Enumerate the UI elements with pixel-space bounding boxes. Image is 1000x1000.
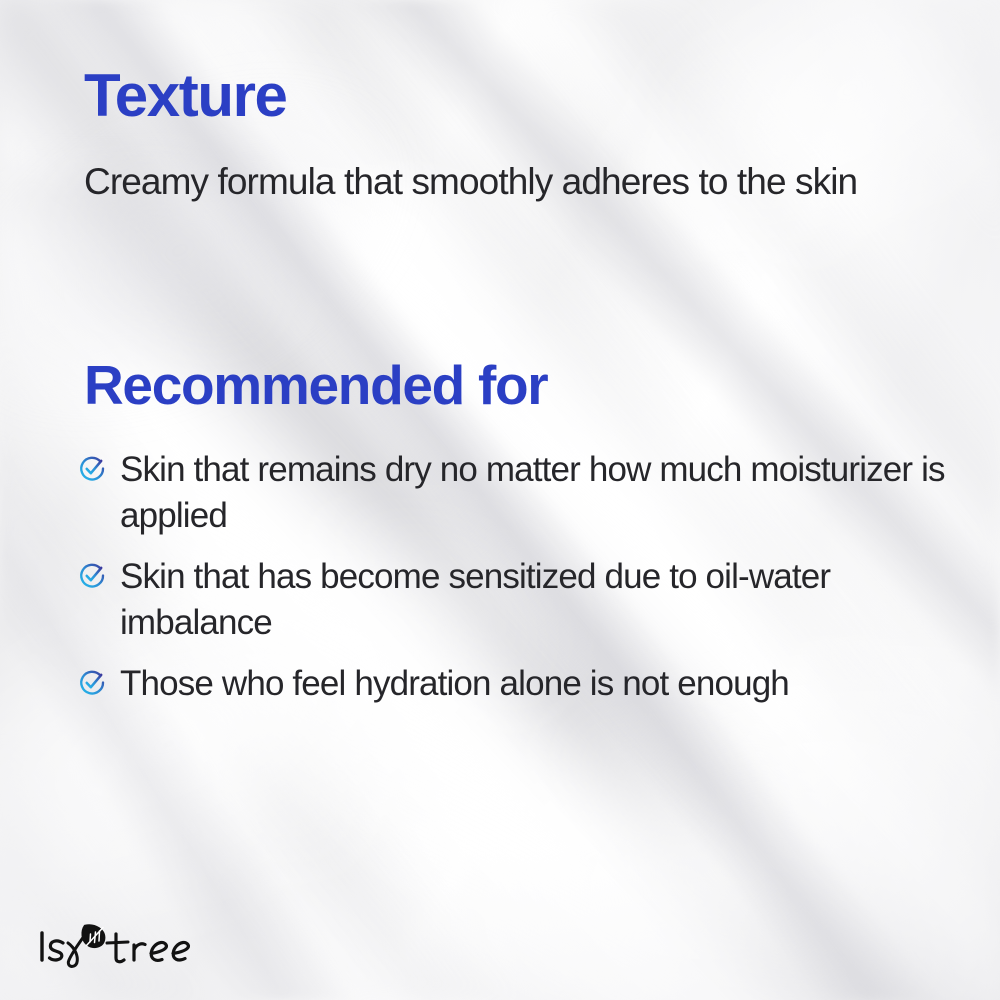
list-item: Those who feel hydration alone is not en…	[78, 661, 978, 707]
brand-logo: Isntree	[33, 916, 233, 978]
list-item: Skin that has become sensitized due to o…	[78, 554, 978, 645]
check-circle-icon	[78, 668, 107, 697]
recommended-heading: Recommended for	[84, 358, 547, 413]
list-item: Skin that remains dry no matter how much…	[78, 447, 978, 538]
list-item-label: Those who feel hydration alone is not en…	[120, 661, 789, 707]
poster-content: Texture Creamy formula that smoothly adh…	[0, 0, 1000, 1000]
check-circle-icon	[78, 454, 107, 483]
recommended-list: Skin that remains dry no matter how much…	[78, 447, 978, 723]
texture-description: Creamy formula that smoothly adheres to …	[84, 160, 857, 204]
list-item-label: Skin that has become sensitized due to o…	[120, 554, 950, 645]
texture-heading: Texture	[84, 66, 287, 126]
product-info-poster: Texture Creamy formula that smoothly adh…	[0, 0, 1000, 1000]
check-circle-icon	[78, 561, 107, 590]
list-item-label: Skin that remains dry no matter how much…	[120, 447, 950, 538]
